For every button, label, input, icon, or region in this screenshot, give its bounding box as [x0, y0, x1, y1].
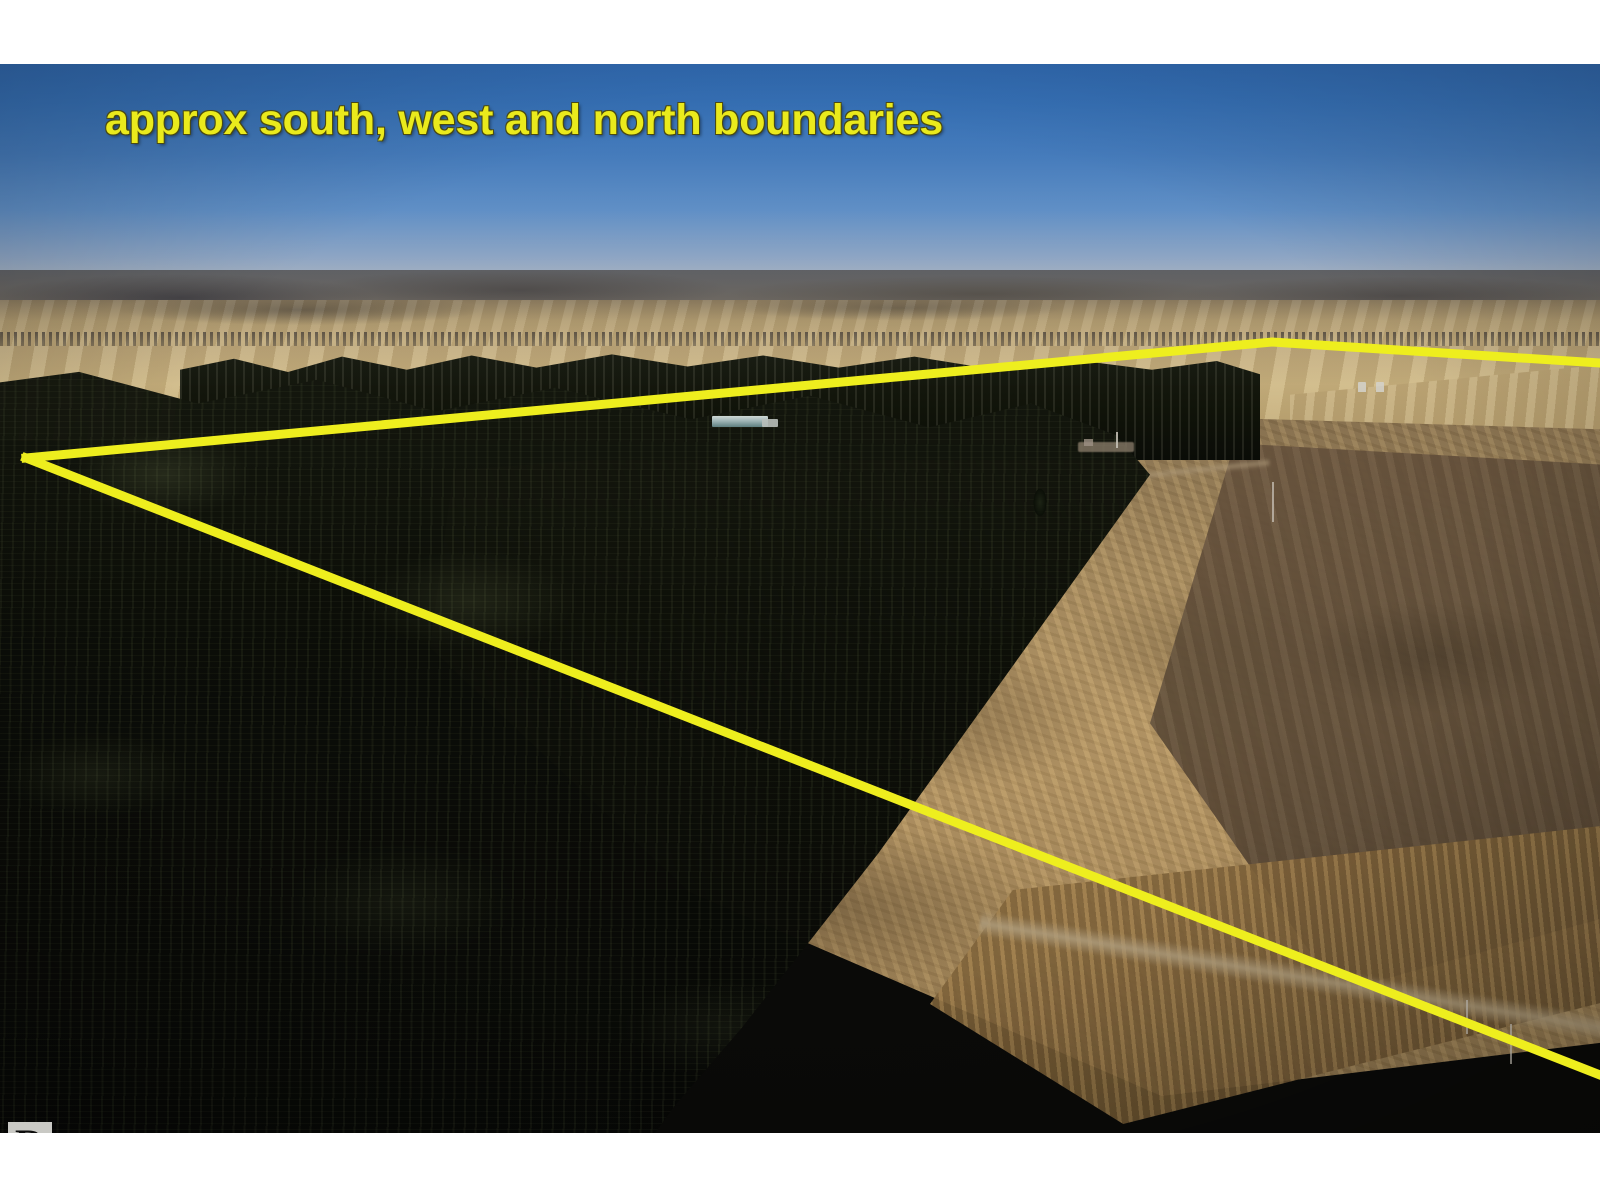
- realtor-letter: R: [15, 1126, 44, 1133]
- wellsite: [1078, 432, 1134, 454]
- wellsite-tank: [1084, 439, 1093, 446]
- grain-bin: [1358, 382, 1366, 392]
- screenshot-root: R REALTOR® approx south, west and north …: [0, 0, 1600, 1200]
- realtor-r-mark: R: [8, 1122, 52, 1133]
- lone-spruce: [1032, 482, 1048, 516]
- boundary-caption: approx south, west and north boundaries: [105, 96, 943, 145]
- realtor-logo: R REALTOR®: [8, 1122, 64, 1133]
- aerial-photo: R REALTOR®: [0, 64, 1600, 1133]
- farmstead-buildings: [712, 414, 788, 430]
- utility-pole: [1272, 482, 1274, 522]
- wellsite-derrick: [1116, 432, 1118, 448]
- grain-bin: [1376, 382, 1384, 392]
- grain-bins: [1358, 382, 1394, 394]
- parked-vehicles: [768, 423, 798, 429]
- fence-post: [1466, 1000, 1468, 1034]
- fence-post: [1510, 1024, 1512, 1064]
- farm-building-main: [712, 416, 768, 427]
